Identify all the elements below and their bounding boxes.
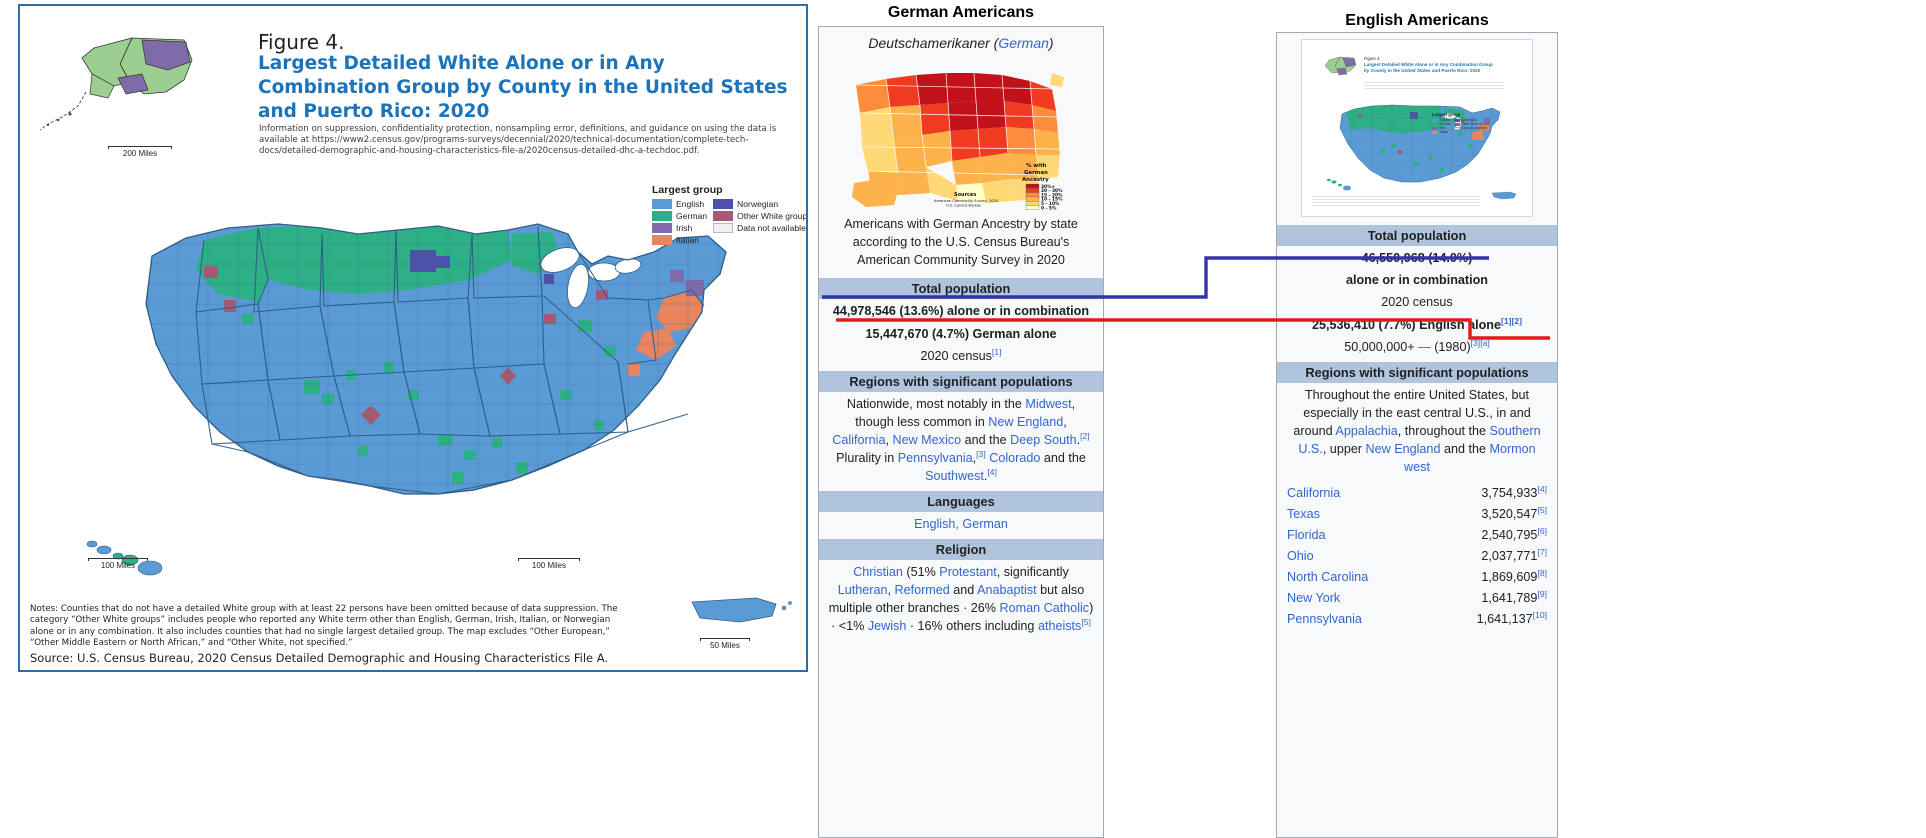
reference-marker[interactable]: [8] [1537,568,1547,578]
legend-swatch-other-white [713,211,733,221]
state-population-value: 2,037,771[7] [1481,548,1547,565]
wiki-link[interactable]: Reformed [894,583,949,597]
wiki-link[interactable]: Lutheran [838,583,888,597]
plain-text: and the [961,433,1010,447]
plain-text: and [950,583,977,597]
plain-text: , upper [1323,442,1366,456]
alaska-inset-map [34,30,244,150]
english-total-population-header: Total population [1277,225,1557,246]
wiki-link[interactable]: Pennsylvania [898,451,973,465]
scalebar-alaska: 200 Miles [108,146,172,158]
legend-item-no-data: Data not available [713,223,808,233]
legend-swatch-english [652,199,672,209]
english-infobox-title: English Americans [1276,12,1558,30]
census-figure-panel: Figure 4. Largest Detailed White Alone o… [18,4,808,672]
german-regions-text: Nationwide, most notably in the Midwest,… [819,392,1103,488]
scalebar-hawaii: 100 Miles [88,558,148,570]
state-population-row: Florida2,540,795[6] [1277,525,1557,546]
map-legend-title: Largest group [652,184,808,196]
figure-title: Largest Detailed White Alone or in Any C… [258,52,798,124]
english-pop-historic-dash: — [1418,340,1431,354]
state-name-link[interactable]: Ohio [1287,548,1314,565]
german-map-caption: Americans with German Ancestry by state … [819,213,1103,275]
german-regions-header: Regions with significant populations [819,371,1103,392]
scalebar-puerto-rico: 50 Miles [700,638,750,650]
thumb-fig-label: Figure 4. [1364,56,1381,61]
svg-text:0 - 5%: 0 - 5% [1041,205,1057,211]
figure-notes: Notes: Counties that do not have a detai… [30,604,630,650]
legend-swatch-italian [652,235,672,245]
svg-text:German: German [1024,170,1048,176]
english-americans-infobox: Figure 4. Largest Detailed White Alone o… [1276,32,1558,838]
plain-text: and the [1040,451,1086,465]
german-religion-header: Religion [819,539,1103,560]
legend-item-norwegian: Norwegian [713,199,808,209]
wiki-link[interactable]: California [832,433,885,447]
wiki-link[interactable]: Appalachia [1335,424,1397,438]
thumb-notes [1312,196,1480,208]
figure-technical-note: Information on suppression, confidential… [259,124,804,156]
wiki-link[interactable]: Protestant [939,565,996,579]
svg-text:U.S. Census Bureau: U.S. Census Bureau [946,204,981,208]
map-legend-column-2: Norwegian Other White groups Data not av… [713,199,808,245]
plain-text: · 16% others including [906,619,1038,633]
state-population-row: Ohio2,037,771[7] [1277,546,1557,567]
state-name-link[interactable]: North Carolina [1287,569,1368,586]
english-pop-combination-label: alone or in combination [1277,268,1557,292]
state-population-row: North Carolina1,869,609[8] [1277,567,1557,588]
map-legend-column-1: English German Irish Italian [652,199,707,245]
state-name-link[interactable]: Florida [1287,527,1326,544]
legend-swatch-no-data [713,223,733,233]
english-pop-alone: 25,536,410 (7.7%) English alone[1][2] [1277,314,1557,335]
german-pop-combination: 44,978,546 (13.6%) alone or in combinati… [819,299,1103,321]
legend-label-italian: Italian [676,235,699,245]
thumb-alaska [1320,54,1364,82]
legend-label-no-data: Data not available [737,223,806,233]
legend-label-english: English [676,199,704,209]
legend-swatch-german [652,211,672,221]
svg-text:% with: % with [1026,163,1047,169]
state-population-row: Texas3,520,547[5] [1277,504,1557,525]
thumb-puerto-rico [1488,188,1524,202]
german-infobox-title: German Americans [818,4,1104,22]
state-population-row: California3,754,933[4] [1277,483,1557,504]
scalebar-conus: 100 Miles [518,558,580,570]
state-population-value: 1,641,789[9] [1481,590,1547,607]
plain-text: (51% [903,565,939,579]
state-population-value: 3,754,933[4] [1481,485,1547,502]
english-pop-historic-number: 50,000,000+ [1344,340,1414,354]
wiki-link[interactable]: Jewish [868,619,907,633]
reference-marker[interactable]: [4] [1537,484,1547,494]
english-pop-combination-number: 46,550,968 (14.0%) [1277,246,1557,268]
svg-text:Sources: Sources [954,192,976,198]
german-total-population-header: Total population [819,278,1103,299]
english-pop-historic-year: (1980) [1434,340,1470,354]
legend-item-english: English [652,199,707,209]
state-population-value: 2,540,795[6] [1481,527,1547,544]
english-pop-alone-text: 25,536,410 (7.7%) English alone [1312,318,1501,332]
thumb-legend: Largest group English German Irish Itali… [1432,112,1489,134]
german-native-name: Deutschamerikaner (German) [819,27,1103,55]
english-pop-alone-refs[interactable]: [1][2] [1501,316,1522,326]
state-population-value: 1,869,609[8] [1481,569,1547,586]
plain-text: Plurality in [836,451,898,465]
wiki-link[interactable]: atheists [1038,619,1081,633]
reference-marker[interactable]: [5] [1081,617,1091,627]
legend-label-german: German [676,211,707,221]
english-pop-census: 2020 census [1277,292,1557,314]
german-languages-text[interactable]: English, German [819,512,1103,536]
wiki-link[interactable]: Roman Catholic [1000,601,1090,615]
plain-text: , significantly [997,565,1069,579]
wiki-link[interactable]: Colorado [989,451,1040,465]
english-figure-thumbnail[interactable]: Figure 4. Largest Detailed White Alone o… [1301,39,1533,217]
german-native-name-text: Deutschamerikaner [868,35,989,51]
legend-label-norwegian: Norwegian [737,199,778,209]
german-pop-census-text: 2020 census [921,349,992,363]
puerto-rico-inset-map [680,586,800,641]
figure-label: Figure 4. [258,30,345,54]
state-name-link[interactable]: California [1287,485,1340,502]
scalebar-puerto-rico-label: 50 Miles [710,641,740,650]
state-name-link[interactable]: Texas [1287,506,1320,523]
english-regions-header: Regions with significant populations [1277,362,1557,383]
wiki-link[interactable]: Midwest [1025,397,1071,411]
reference-marker[interactable]: [4] [987,467,997,477]
map-legend: Largest group English German Irish Itali… [652,184,808,245]
english-regions-text: Throughout the entire United States, but… [1277,383,1557,479]
english-pop-historic: 50,000,000+ — (1980)[3][a] [1277,335,1557,359]
german-pop-census-ref[interactable]: [1] [992,347,1002,357]
german-religion-text: Christian (51% Protestant, significantly… [819,560,1103,638]
thumb-fig-title: Largest Detailed White Alone or in Any C… [1364,62,1494,74]
wiki-link[interactable]: New England [1366,442,1441,456]
reference-marker[interactable]: [6] [1537,526,1547,536]
reference-marker[interactable]: [5] [1537,505,1547,515]
plain-text: and the [1440,442,1489,456]
german-pop-census: 2020 census[1] [819,344,1103,368]
legend-swatch-irish [652,223,672,233]
wiki-link[interactable]: Anabaptist [977,583,1037,597]
svg-text:Ancestry: Ancestry [1022,177,1049,183]
wiki-link[interactable]: Southwest [925,469,984,483]
state-population-value: 1,641,137[10] [1477,611,1547,628]
wiki-link[interactable]: New England [988,415,1063,429]
legend-item-german: German [652,211,707,221]
german-ancestry-map: % with German Ancestry 30%+ 20 - 30% 15 … [846,55,1076,213]
thumb-legend-title: Largest group [1432,112,1489,117]
legend-swatch-norwegian [713,199,733,209]
legend-item-irish: Irish [652,223,707,233]
german-pop-alone: 15,447,670 (4.7%) German alone [819,321,1103,344]
scalebar-hawaii-label: 100 Miles [101,561,135,570]
reference-marker[interactable]: [3] [976,449,986,459]
state-name-link[interactable]: New York [1287,590,1340,607]
legend-item-italian: Italian [652,235,707,245]
german-language-link[interactable]: German [998,35,1049,51]
conus-county-map [108,194,788,594]
state-population-row: Pennsylvania1,641,137[10] [1277,609,1557,630]
scalebar-alaska-label: 200 Miles [123,149,157,158]
state-name-link[interactable]: Pennsylvania [1287,611,1362,628]
reference-marker[interactable]: [7] [1537,547,1547,557]
reference-marker[interactable]: [2] [1080,431,1090,441]
plain-text: , throughout the [1398,424,1490,438]
thumb-fig-note [1364,82,1504,91]
state-population-row: New York1,641,789[9] [1277,588,1557,609]
english-pop-historic-refs[interactable]: [3][a] [1471,338,1490,348]
wiki-link[interactable]: Christian [853,565,903,579]
svg-text:American Community Survey, 202: American Community Survey, 2020 [934,199,999,203]
legend-label-irish: Irish [676,223,692,233]
german-languages-header: Languages [819,491,1103,512]
reference-marker[interactable]: [9] [1537,589,1547,599]
plain-text: , [1063,415,1067,429]
wiki-link[interactable]: New Mexico [892,433,961,447]
legend-label-other-white: Other White groups [737,211,808,221]
plain-text: Nationwide, most notably in the [847,397,1026,411]
english-state-list: California3,754,933[4]Texas3,520,547[5]F… [1277,483,1557,630]
figure-source: Source: U.S. Census Bureau, 2020 Census … [30,651,608,665]
german-americans-infobox: Deutschamerikaner (German) [818,26,1104,838]
state-population-value: 3,520,547[5] [1481,506,1547,523]
legend-item-other-white: Other White groups [713,211,808,221]
thumb-hawaii [1324,176,1354,192]
scalebar-conus-label: 100 Miles [532,561,566,570]
wiki-link[interactable]: Deep South [1010,433,1077,447]
reference-marker[interactable]: [10] [1533,610,1547,620]
